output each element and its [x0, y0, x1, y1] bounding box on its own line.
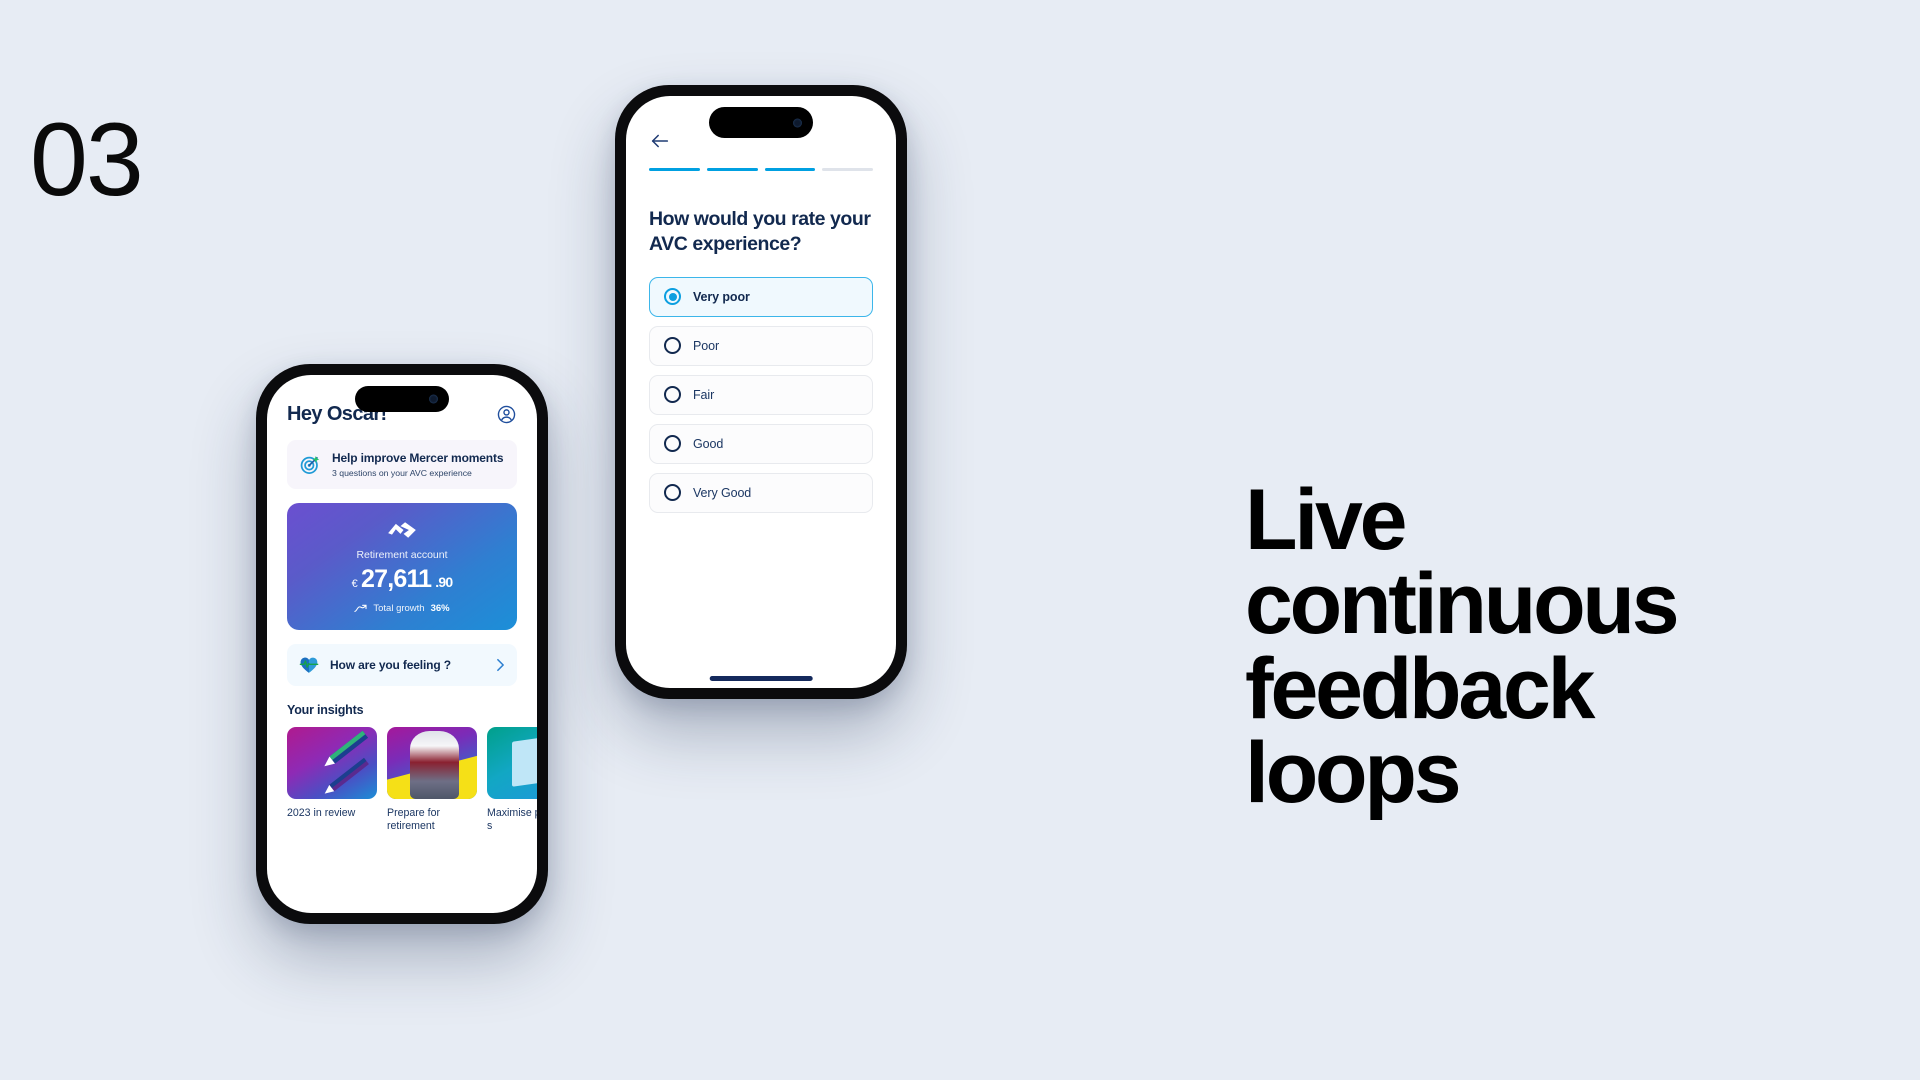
- insights-carousel[interactable]: 2023: [287, 727, 517, 833]
- progress-bar: [649, 168, 873, 171]
- front-camera-icon: [793, 118, 802, 127]
- front-camera-icon: [429, 395, 438, 404]
- option-label: Good: [693, 437, 723, 451]
- chevron-right-icon[interactable]: [496, 658, 505, 672]
- dynamic-island: [709, 107, 813, 138]
- option-very-poor[interactable]: Very poor: [649, 277, 873, 317]
- insight-thumbnail-retirement: [387, 727, 477, 799]
- insight-caption: Maximise pension s: [487, 807, 537, 833]
- option-label: Fair: [693, 388, 714, 402]
- trend-up-icon: [354, 604, 367, 613]
- promo-title: Help improve Mercer moments: [332, 451, 503, 466]
- phone-mockup-survey: How would you rate your AVC experience? …: [615, 85, 907, 699]
- slide-canvas: 03 Hey Oscar!: [0, 0, 1920, 1080]
- home-indicator: [710, 676, 813, 681]
- how-are-you-feeling-card[interactable]: How are you feeling ?: [287, 644, 517, 686]
- home-screen: Hey Oscar! Help improve: [267, 375, 537, 913]
- question-title: How would you rate your AVC experience?: [649, 207, 873, 257]
- option-label: Very poor: [693, 290, 750, 304]
- insight-caption: 2023 in review: [287, 807, 377, 820]
- headline-line-3: loops: [1245, 731, 1765, 815]
- phone-mockup-home: Hey Oscar! Help improve: [256, 364, 548, 924]
- option-label: Very Good: [693, 486, 751, 500]
- promo-text-block: Help improve Mercer moments 3 questions …: [332, 451, 503, 478]
- promo-card-mercer-moments[interactable]: Help improve Mercer moments 3 questions …: [287, 440, 517, 489]
- dynamic-island: [355, 386, 449, 412]
- progress-segment-4: [822, 168, 873, 171]
- balance-decimal: .90: [435, 574, 452, 590]
- insight-caption: Prepare for retirement: [387, 807, 477, 833]
- radio-unselected-icon[interactable]: [664, 435, 681, 452]
- growth-value: 36%: [431, 603, 450, 614]
- progress-segment-3: [765, 168, 816, 171]
- document-shape: [512, 736, 537, 786]
- back-arrow-icon[interactable]: [649, 130, 671, 152]
- option-label: Poor: [693, 339, 719, 353]
- options-list[interactable]: Very poorPoorFairGoodVery Good: [649, 277, 873, 513]
- option-poor[interactable]: Poor: [649, 326, 873, 366]
- currency-symbol: €: [352, 578, 357, 590]
- survey-screen: How would you rate your AVC experience? …: [626, 96, 896, 688]
- insight-card[interactable]: 2023: [287, 727, 377, 833]
- headline-line-1: continuous: [1245, 562, 1765, 646]
- progress-segment-2: [707, 168, 758, 171]
- headline-line-2: feedback: [1245, 647, 1765, 731]
- insight-thumbnail-2023: 2023: [287, 727, 377, 799]
- heart-pulse-icon: [299, 656, 319, 674]
- radio-unselected-icon[interactable]: [664, 337, 681, 354]
- home-content: Hey Oscar! Help improve: [267, 375, 537, 833]
- feeling-label: How are you feeling ?: [330, 658, 485, 672]
- retirement-account-card[interactable]: Retirement account € 27,611 .90 Total gr…: [287, 503, 517, 630]
- account-circle-icon[interactable]: [496, 404, 517, 425]
- insight-thumbnail-pension: [487, 727, 537, 799]
- promo-subtitle: 3 questions on your AVC experience: [332, 468, 503, 478]
- balance-label: Retirement account: [287, 549, 517, 561]
- insight-card[interactable]: Prepare for retirement: [387, 727, 477, 833]
- balance-amount: € 27,611 .90: [287, 565, 517, 594]
- headline: Livecontinuousfeedbackloops: [1245, 478, 1765, 815]
- growth-row: Total growth 36%: [287, 603, 517, 614]
- option-good[interactable]: Good: [649, 424, 873, 464]
- person-photo: [410, 731, 459, 799]
- insights-heading: Your insights: [287, 703, 517, 717]
- radio-unselected-icon[interactable]: [664, 484, 681, 501]
- slide-number: 03: [30, 108, 142, 212]
- insight-card[interactable]: Maximise pension s: [487, 727, 537, 833]
- growth-label: Total growth: [373, 603, 424, 614]
- survey-content: How would you rate your AVC experience? …: [626, 96, 896, 513]
- option-very-good[interactable]: Very Good: [649, 473, 873, 513]
- radio-selected-icon[interactable]: [664, 288, 681, 305]
- balance-integer: 27,611: [361, 565, 431, 594]
- target-icon: [299, 454, 321, 476]
- pencils-icon: [287, 727, 377, 799]
- option-fair[interactable]: Fair: [649, 375, 873, 415]
- radio-unselected-icon[interactable]: [664, 386, 681, 403]
- mercer-logo-icon: [385, 520, 419, 540]
- progress-segment-1: [649, 168, 700, 171]
- headline-line-0: Live: [1245, 478, 1765, 562]
